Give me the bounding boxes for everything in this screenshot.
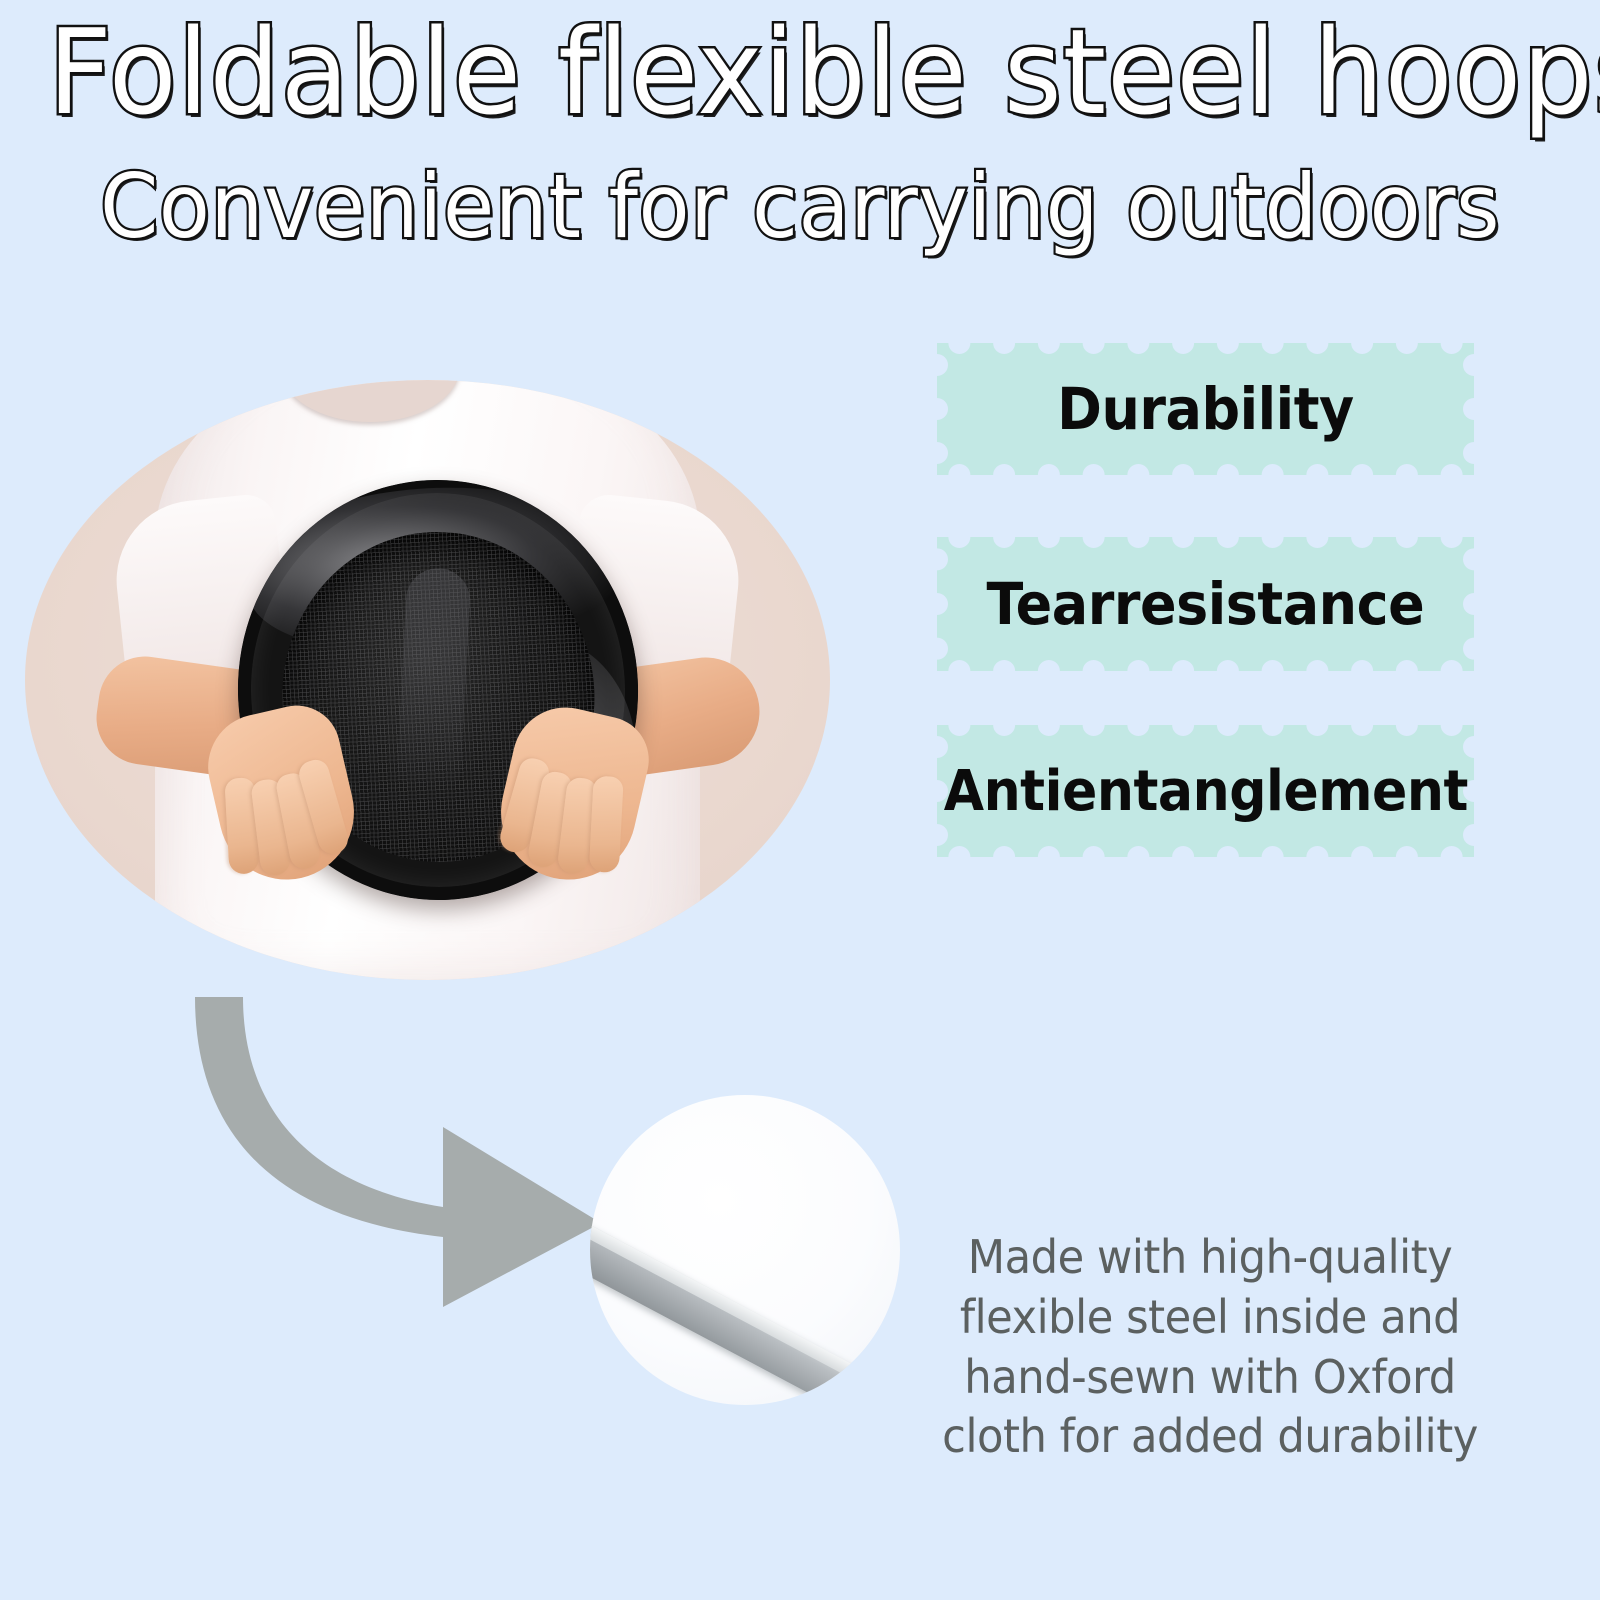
- product-photo-oval: [25, 380, 830, 980]
- feature-badge-label: Antientanglement: [943, 759, 1467, 824]
- feature-badge-antientanglement[interactable]: Antientanglement: [937, 725, 1474, 857]
- flexible-steel-strip: [590, 1216, 900, 1405]
- product-description-caption: Made with high-quality flexible steel in…: [919, 1228, 1502, 1467]
- feature-badge-tearresistance[interactable]: Tearresistance: [937, 537, 1474, 671]
- headline-secondary: Convenient for carrying outdoors: [40, 156, 1560, 257]
- arrow-shape: [195, 997, 601, 1307]
- net-fold-crease: [396, 567, 472, 800]
- curved-arrow-icon: [195, 985, 625, 1315]
- headline-primary: Foldable flexible steel hoops: [48, 12, 1552, 132]
- feature-badge-durability[interactable]: Durability: [937, 343, 1474, 475]
- headline-block: Foldable flexible steel hoops Convenient…: [0, 12, 1600, 258]
- feature-badge-label: Durability: [1057, 375, 1354, 443]
- feature-badge-label: Tearresistance: [987, 570, 1425, 638]
- steel-strip-highlight: [590, 1216, 900, 1405]
- steel-strip-photo-circle: [590, 1095, 900, 1405]
- product-infographic-poster: Foldable flexible steel hoops Convenient…: [0, 0, 1600, 1600]
